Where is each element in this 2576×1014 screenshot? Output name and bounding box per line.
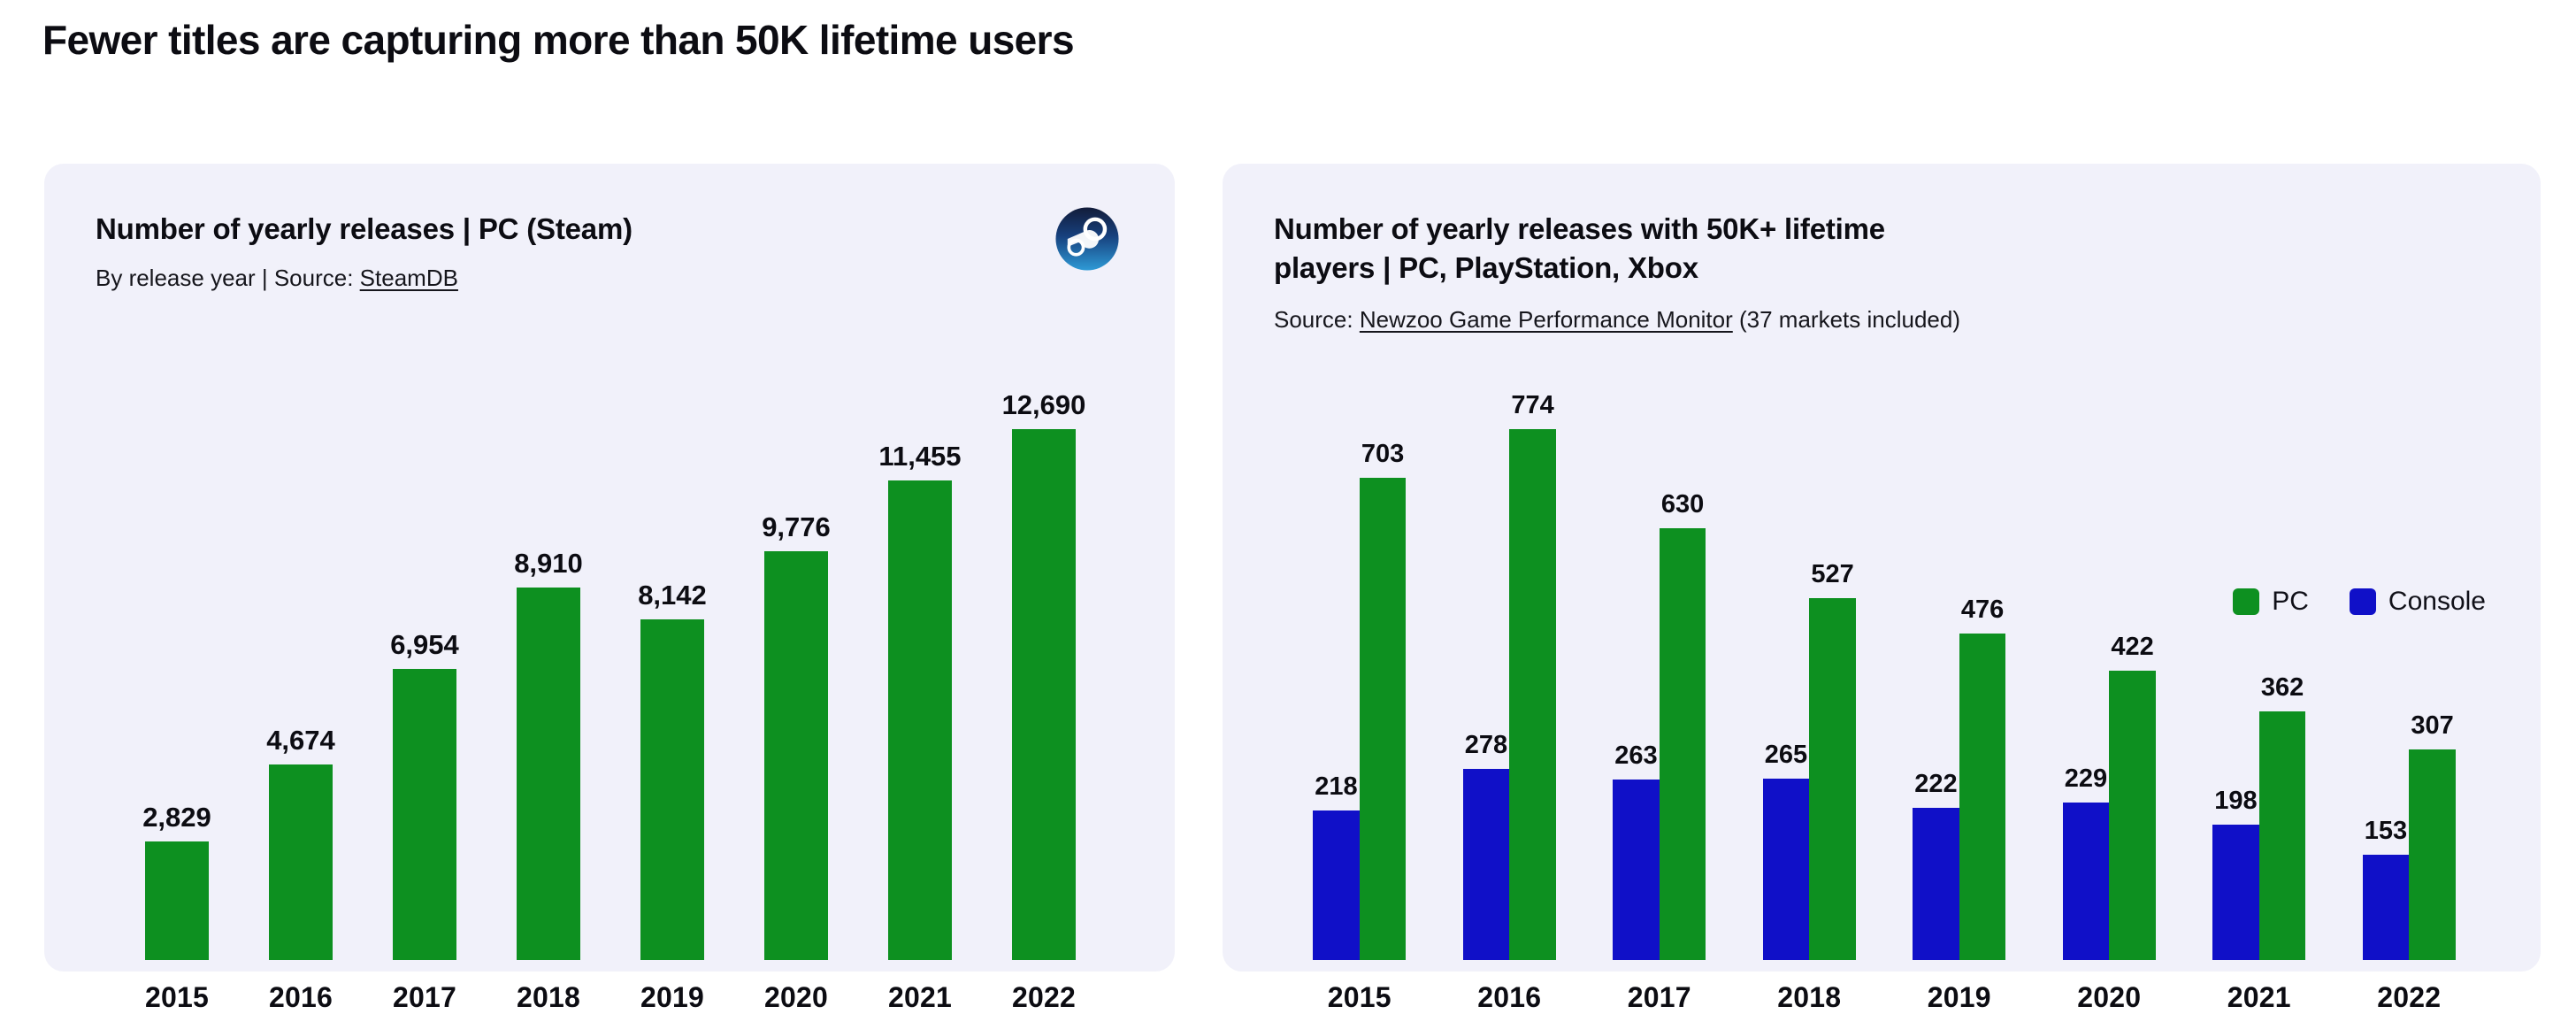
bar-value-console-2016: 278 <box>1465 733 1507 758</box>
bar-console-2022[interactable] <box>2363 855 2410 960</box>
bar-wrap-console-2019: 222 <box>1913 429 1959 960</box>
bar-value-pc-2016: 774 <box>1511 393 1553 419</box>
bar-value-console-2018: 265 <box>1765 742 1807 768</box>
xtick-2020: 2020 <box>734 981 858 1014</box>
left-panel-header: Number of yearly releases | PC (Steam) B… <box>96 210 1123 294</box>
bar-2016[interactable] <box>269 764 333 960</box>
bar-pc-2017[interactable] <box>1660 528 1706 960</box>
bar-wrap-pc-2015: 703 <box>1360 429 1407 960</box>
right-chart-plot: 218 703 278 774 <box>1223 429 2541 960</box>
bar-pc-2022[interactable] <box>2409 749 2456 960</box>
newzoo-link[interactable]: Newzoo Game Performance Monitor <box>1360 306 1733 333</box>
bar-2015[interactable] <box>145 841 210 960</box>
bar-2018[interactable] <box>517 588 581 960</box>
bar-value-2019: 8,142 <box>638 581 707 609</box>
right-panel-title-line1: Number of yearly releases with 50K+ life… <box>1274 210 2265 249</box>
source-prefix: Source: <box>1274 306 1360 333</box>
bar-pc-2021[interactable] <box>2259 711 2306 960</box>
bar-value-2016: 4,674 <box>266 726 335 754</box>
right-chart-xaxis: 2015 2016 2017 2018 2019 2020 2021 2022 <box>1284 981 2484 1014</box>
bar-group-2020: 9,776 <box>734 429 858 960</box>
bar-2020[interactable] <box>764 551 829 960</box>
bar-group-2017: 263 630 <box>1584 429 1735 960</box>
bar-value-console-2021: 198 <box>2214 788 2257 814</box>
right-panel-header: Number of yearly releases with 50K+ life… <box>1274 210 2265 335</box>
bar-group-2015: 218 703 <box>1284 429 1435 960</box>
left-chart-plot: 2,829 4,674 6,954 <box>44 429 1175 960</box>
xtick-2022: 2022 <box>2334 981 2485 1014</box>
bar-value-pc-2017: 630 <box>1661 492 1704 518</box>
steamdb-link[interactable]: SteamDB <box>360 265 458 291</box>
left-panel-title: Number of yearly releases | PC (Steam) <box>96 210 1123 249</box>
bar-value-pc-2019: 476 <box>1961 597 2004 623</box>
bar-wrap-2021: 11,455 <box>888 429 953 960</box>
bar-group-2022: 12,690 <box>982 429 1106 960</box>
bar-group-2021: 11,455 <box>858 429 982 960</box>
bar-value-pc-2020: 422 <box>2111 634 2153 660</box>
bar-value-console-2020: 229 <box>2065 766 2107 792</box>
xtick-2015: 2015 <box>115 981 239 1014</box>
bar-group-2019: 222 476 <box>1884 429 2035 960</box>
bar-wrap-pc-2018: 527 <box>1809 429 1856 960</box>
bar-value-2015: 2,829 <box>142 803 211 831</box>
bar-group-2021: 198 362 <box>2184 429 2334 960</box>
left-chart-xaxis: 2015 2016 2017 2018 2019 2020 2021 2022 <box>115 981 1106 1014</box>
bar-pc-2018[interactable] <box>1809 598 1856 960</box>
bar-pc-2020[interactable] <box>2109 671 2156 960</box>
bar-wrap-console-2015: 218 <box>1313 429 1360 960</box>
bar-console-2016[interactable] <box>1463 769 1510 960</box>
bar-wrap-pc-2017: 630 <box>1660 429 1706 960</box>
right-panel-source: Source: Newzoo Game Performance Monitor … <box>1274 304 2265 335</box>
bar-wrap-console-2018: 265 <box>1763 429 1810 960</box>
bar-wrap-2016: 4,674 <box>269 429 333 960</box>
bar-wrap-pc-2016: 774 <box>1509 429 1556 960</box>
bar-wrap-pc-2021: 362 <box>2259 429 2306 960</box>
xtick-2020: 2020 <box>2035 981 2185 1014</box>
bar-wrap-2020: 9,776 <box>764 429 829 960</box>
bar-wrap-console-2022: 153 <box>2363 429 2410 960</box>
bar-value-pc-2022: 307 <box>2411 713 2453 739</box>
bar-console-2018[interactable] <box>1763 779 1810 960</box>
xtick-2019: 2019 <box>610 981 734 1014</box>
bar-pc-2019[interactable] <box>1959 634 2006 960</box>
bar-group-2018: 8,910 <box>487 429 610 960</box>
bar-console-2021[interactable] <box>2212 825 2259 960</box>
page-title: Fewer titles are capturing more than 50K… <box>42 16 1074 65</box>
bar-pc-2016[interactable] <box>1509 429 1556 960</box>
bar-console-2017[interactable] <box>1613 780 1660 960</box>
bar-console-2020[interactable] <box>2063 803 2110 960</box>
xtick-2018: 2018 <box>1735 981 1885 1014</box>
xtick-2022: 2022 <box>982 981 1106 1014</box>
infographic-root: Fewer titles are capturing more than 50K… <box>0 0 2576 1008</box>
left-chart-bars: 2,829 4,674 6,954 <box>115 429 1106 960</box>
xtick-2015: 2015 <box>1284 981 1435 1014</box>
bar-value-2021: 11,455 <box>878 442 961 470</box>
bar-wrap-pc-2022: 307 <box>2409 429 2456 960</box>
bar-value-2017: 6,954 <box>390 631 459 658</box>
bar-group-2017: 6,954 <box>363 429 487 960</box>
right-chart-bars: 218 703 278 774 <box>1284 429 2484 960</box>
xtick-2019: 2019 <box>1884 981 2035 1014</box>
bar-wrap-2018: 8,910 <box>517 429 581 960</box>
bar-wrap-console-2021: 198 <box>2212 429 2259 960</box>
bar-value-pc-2015: 703 <box>1361 442 1404 467</box>
bar-wrap-2017: 6,954 <box>393 429 457 960</box>
bar-group-2022: 153 307 <box>2334 429 2485 960</box>
bar-value-pc-2018: 527 <box>1811 562 1853 588</box>
bar-pc-2015[interactable] <box>1360 478 1407 960</box>
left-panel-subtitle: By release year | Source: SteamDB <box>96 263 1123 294</box>
bar-group-2016: 4,674 <box>239 429 363 960</box>
bar-console-2019[interactable] <box>1913 808 1959 960</box>
bar-value-console-2022: 153 <box>2365 818 2407 844</box>
bar-console-2015[interactable] <box>1313 810 1360 960</box>
bar-wrap-console-2016: 278 <box>1463 429 1510 960</box>
xtick-2016: 2016 <box>239 981 363 1014</box>
bar-group-2020: 229 422 <box>2035 429 2185 960</box>
bar-wrap-console-2017: 263 <box>1613 429 1660 960</box>
bar-wrap-console-2020: 229 <box>2063 429 2110 960</box>
bar-wrap-2015: 2,829 <box>145 429 210 960</box>
bar-2019[interactable] <box>640 619 705 960</box>
bar-group-2019: 8,142 <box>610 429 734 960</box>
bar-value-console-2017: 263 <box>1614 743 1657 769</box>
xtick-2018: 2018 <box>487 981 610 1014</box>
panel-fifty-k-titles: Number of yearly releases with 50K+ life… <box>1223 164 2541 972</box>
steam-logo-icon <box>1054 206 1120 272</box>
xtick-2017: 2017 <box>363 981 487 1014</box>
bar-value-pc-2021: 362 <box>2261 675 2304 701</box>
bar-wrap-2022: 12,690 <box>1012 429 1077 960</box>
bar-group-2016: 278 774 <box>1435 429 1585 960</box>
bar-wrap-2019: 8,142 <box>640 429 705 960</box>
bar-2021[interactable] <box>888 480 953 960</box>
xtick-2021: 2021 <box>2184 981 2334 1014</box>
bar-wrap-pc-2019: 476 <box>1959 429 2006 960</box>
bar-wrap-pc-2020: 422 <box>2109 429 2156 960</box>
left-subtitle-text: By release year | Source: <box>96 265 360 291</box>
bar-value-2022: 12,690 <box>1002 391 1086 419</box>
bar-group-2015: 2,829 <box>115 429 239 960</box>
right-panel-title-line2: players | PC, PlayStation, Xbox <box>1274 249 2265 288</box>
xtick-2016: 2016 <box>1435 981 1585 1014</box>
panel-steam-releases: Number of yearly releases | PC (Steam) B… <box>44 164 1175 972</box>
bar-value-2020: 9,776 <box>762 513 831 541</box>
bar-value-2018: 8,910 <box>514 549 583 577</box>
xtick-2021: 2021 <box>858 981 982 1014</box>
bar-value-console-2015: 218 <box>1315 774 1357 800</box>
bar-2017[interactable] <box>393 669 457 960</box>
bar-group-2018: 265 527 <box>1735 429 1885 960</box>
source-suffix: (37 markets included) <box>1733 306 1960 333</box>
bar-2022[interactable] <box>1012 429 1077 960</box>
bar-value-console-2019: 222 <box>1914 772 1957 797</box>
xtick-2017: 2017 <box>1584 981 1735 1014</box>
